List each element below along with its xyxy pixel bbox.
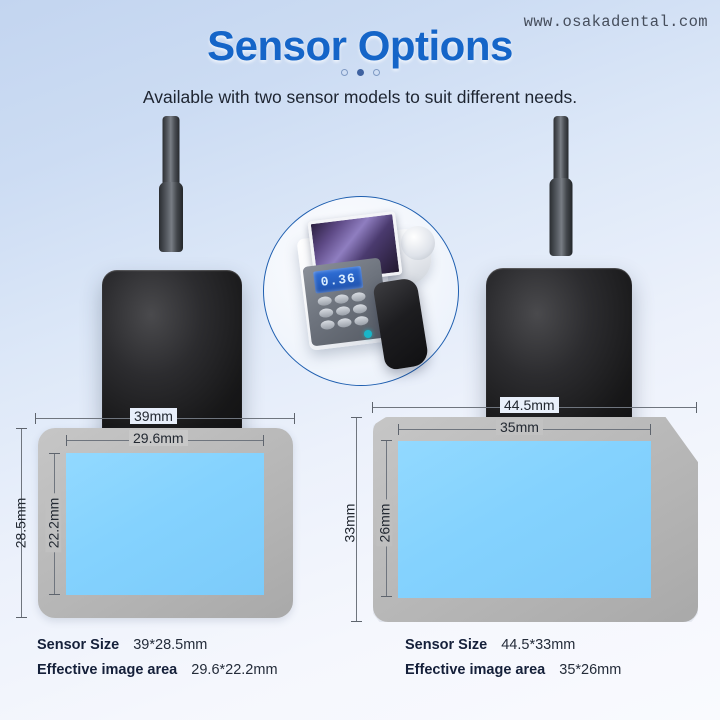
effective-image-area bbox=[66, 453, 264, 595]
effective-image-area bbox=[398, 441, 651, 598]
sensor-cable-boot bbox=[550, 178, 573, 256]
infographic-canvas: www.osakadental.com Sensor Options Avail… bbox=[0, 0, 720, 720]
caption-area-label: Effective image area bbox=[405, 662, 545, 678]
dim-label-outer-width: 44.5mm bbox=[500, 397, 559, 413]
keypad-key[interactable] bbox=[334, 294, 349, 305]
caption-size-label: Sensor Size bbox=[37, 637, 119, 653]
dim-label-outer-width: 39mm bbox=[130, 408, 177, 424]
sensor-outline bbox=[38, 428, 293, 618]
carousel-dot-1[interactable] bbox=[341, 69, 348, 76]
dim-label-inner-width: 29.6mm bbox=[129, 430, 188, 446]
xray-power-indicator bbox=[364, 330, 372, 338]
caption-area-value: 35*26mm bbox=[559, 662, 621, 678]
xray-lcd-display: 0.36 bbox=[313, 266, 363, 294]
sensor-size-1-dimension-diagram: 39mm 29.6mm 28.5mm 22.2mm bbox=[0, 395, 330, 645]
dim-label-outer-height: 28.5mm bbox=[12, 494, 28, 553]
keypad-key[interactable] bbox=[354, 315, 369, 326]
xray-keypad-buttons[interactable] bbox=[317, 292, 369, 331]
sensor-size-2-caption: Sensor Size 44.5*33mm Effective image ar… bbox=[405, 633, 621, 683]
sensor-size-2-dimension-diagram: 44.5mm 35mm 33mm 26mm bbox=[340, 390, 720, 645]
keypad-key[interactable] bbox=[351, 292, 366, 303]
caption-size-label: Sensor Size bbox=[405, 637, 487, 653]
keypad-key[interactable] bbox=[352, 304, 367, 315]
sensor-outline bbox=[373, 417, 698, 622]
keypad-key[interactable] bbox=[320, 320, 335, 331]
dim-label-inner-width: 35mm bbox=[496, 419, 543, 435]
sensor-photo-size-2 bbox=[472, 116, 650, 388]
dim-label-outer-height: 33mm bbox=[341, 500, 357, 547]
caption-area-value: 29.6*22.2mm bbox=[191, 662, 277, 678]
carousel-dot-3[interactable] bbox=[373, 69, 380, 76]
portable-dental-xray-unit: 0.36 bbox=[263, 196, 459, 386]
page-title: Sensor Options bbox=[0, 22, 720, 70]
sensor-photo-size-1 bbox=[83, 116, 258, 388]
keypad-key[interactable] bbox=[319, 308, 334, 319]
sensor-cable-boot bbox=[159, 182, 183, 252]
dim-label-inner-height: 26mm bbox=[376, 500, 392, 547]
carousel-dot-2[interactable] bbox=[357, 69, 364, 76]
keypad-key[interactable] bbox=[317, 296, 332, 307]
xray-collimator-cone bbox=[401, 226, 435, 260]
dim-label-inner-height: 22.2mm bbox=[45, 494, 61, 553]
caption-size-value: 39*28.5mm bbox=[133, 637, 207, 653]
page-subtitle: Available with two sensor models to suit… bbox=[0, 87, 720, 108]
caption-area-label: Effective image area bbox=[37, 662, 177, 678]
keypad-key[interactable] bbox=[336, 306, 351, 317]
carousel-dots[interactable] bbox=[0, 69, 720, 76]
keypad-key[interactable] bbox=[337, 318, 352, 329]
sensor-size-1-caption: Sensor Size 39*28.5mm Effective image ar… bbox=[37, 633, 278, 683]
caption-size-value: 44.5*33mm bbox=[501, 637, 575, 653]
